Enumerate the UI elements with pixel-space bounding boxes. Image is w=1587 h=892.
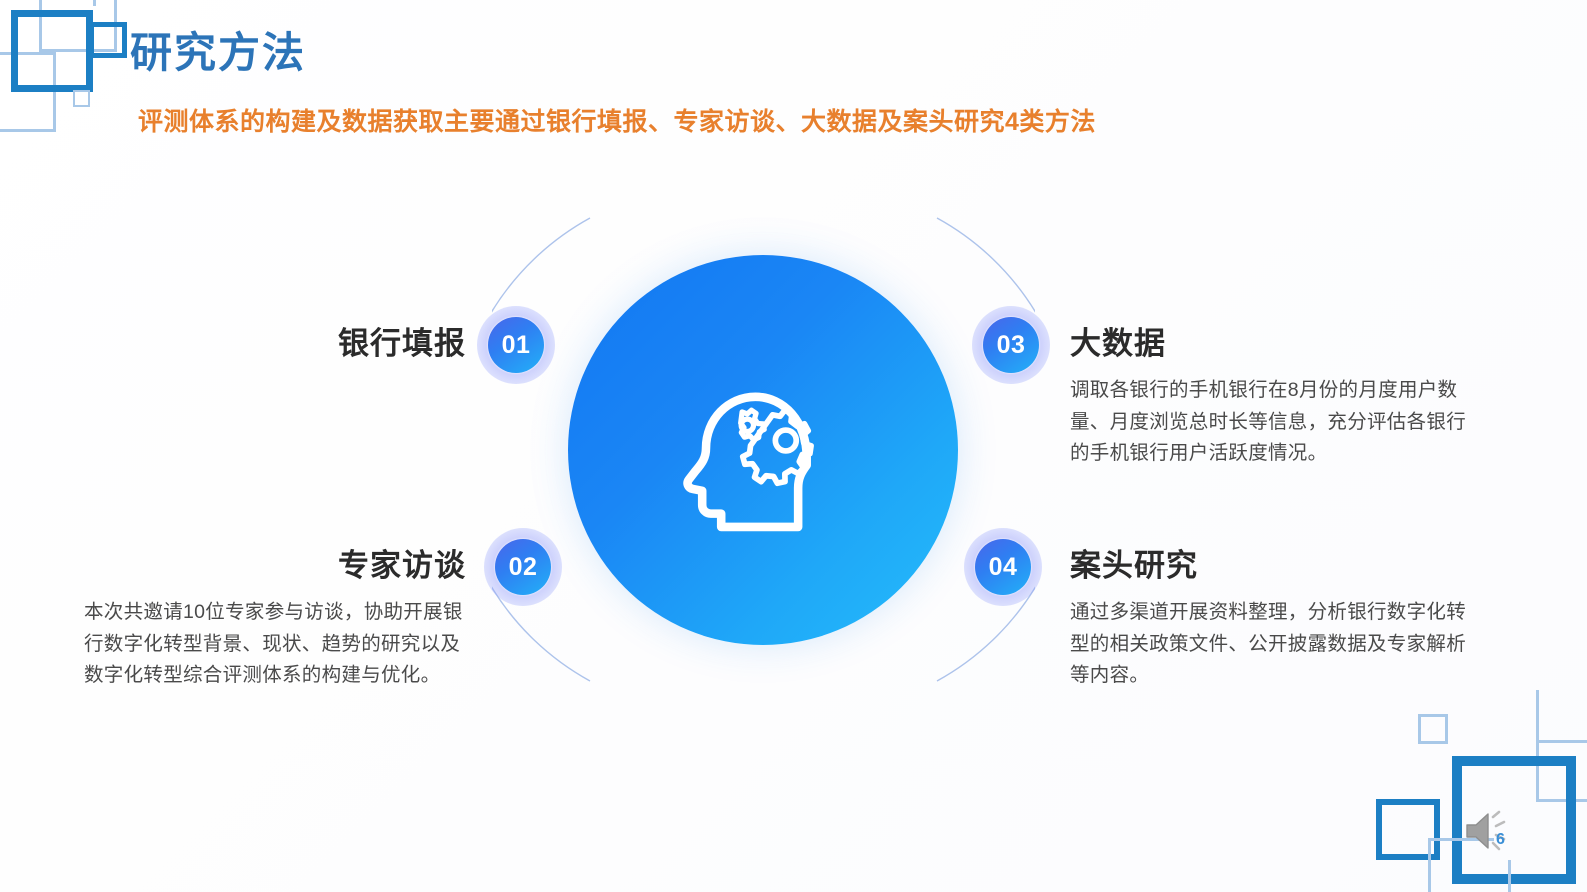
- method-badge-01[interactable]: 01: [477, 306, 555, 384]
- method-heading-02: 专家访谈: [84, 540, 466, 585]
- method-block-01: 银行填报: [84, 318, 466, 363]
- method-body-02: 本次共邀请10位专家参与访谈，协助开展银行数字化转型背景、现状、趋势的研究以及数…: [84, 597, 466, 692]
- decor-square-light-tiny: [73, 90, 90, 107]
- decor-square-strong-large: [11, 10, 93, 92]
- method-badge-01-label: 01: [488, 317, 544, 373]
- method-badge-03[interactable]: 03: [972, 306, 1050, 384]
- method-badge-04-label: 04: [975, 539, 1031, 595]
- method-heading-03: 大数据: [1070, 318, 1482, 363]
- method-block-03: 大数据 调取各银行的手机银行在8月份的月度用户数量、月度浏览总时长等信息，充分评…: [1070, 318, 1482, 470]
- page-subtitle: 评测体系的构建及数据获取主要通过银行填报、专家访谈、大数据及案头研究4类方法: [138, 102, 1096, 138]
- method-badge-02[interactable]: 02: [484, 528, 562, 606]
- speaker-audio-icon[interactable]: 6: [1463, 808, 1511, 854]
- method-body-04: 通过多渠道开展资料整理，分析银行数字化转型的相关政策文件、公开披露数据及专家解析…: [1070, 597, 1482, 692]
- decor-square-strong-small: [89, 22, 127, 58]
- method-badge-04[interactable]: 04: [964, 528, 1042, 606]
- method-heading-01: 银行填报: [84, 318, 466, 363]
- head-with-gears-icon: [668, 355, 858, 545]
- page-title: 研究方法: [130, 30, 1096, 76]
- svg-text:6: 6: [1496, 831, 1505, 848]
- method-block-04: 案头研究 通过多渠道开展资料整理，分析银行数字化转型的相关政策文件、公开披露数据…: [1070, 540, 1482, 692]
- method-heading-04: 案头研究: [1070, 540, 1482, 585]
- decor-br-square-light-small: [1418, 714, 1448, 744]
- slide-header: 研究方法 评测体系的构建及数据获取主要通过银行填报、专家访谈、大数据及案头研究4…: [130, 30, 1096, 138]
- decor-br-line-vert-bottom: [1428, 838, 1431, 892]
- method-badge-03-label: 03: [983, 317, 1039, 373]
- decor-br-line-vert-far: [1508, 860, 1511, 892]
- method-body-03: 调取各银行的手机银行在8月份的月度用户数量、月度浏览总时长等信息，充分评估各银行…: [1070, 375, 1482, 470]
- method-block-02: 专家访谈 本次共邀请10位专家参与访谈，协助开展银行数字化转型背景、现状、趋势的…: [84, 540, 466, 692]
- decor-line-light-vert-right: [93, 0, 96, 6]
- slide-canvas: 研究方法 评测体系的构建及数据获取主要通过银行填报、专家访谈、大数据及案头研究4…: [0, 0, 1587, 892]
- method-badge-02-label: 02: [495, 539, 551, 595]
- center-circle: [568, 255, 958, 645]
